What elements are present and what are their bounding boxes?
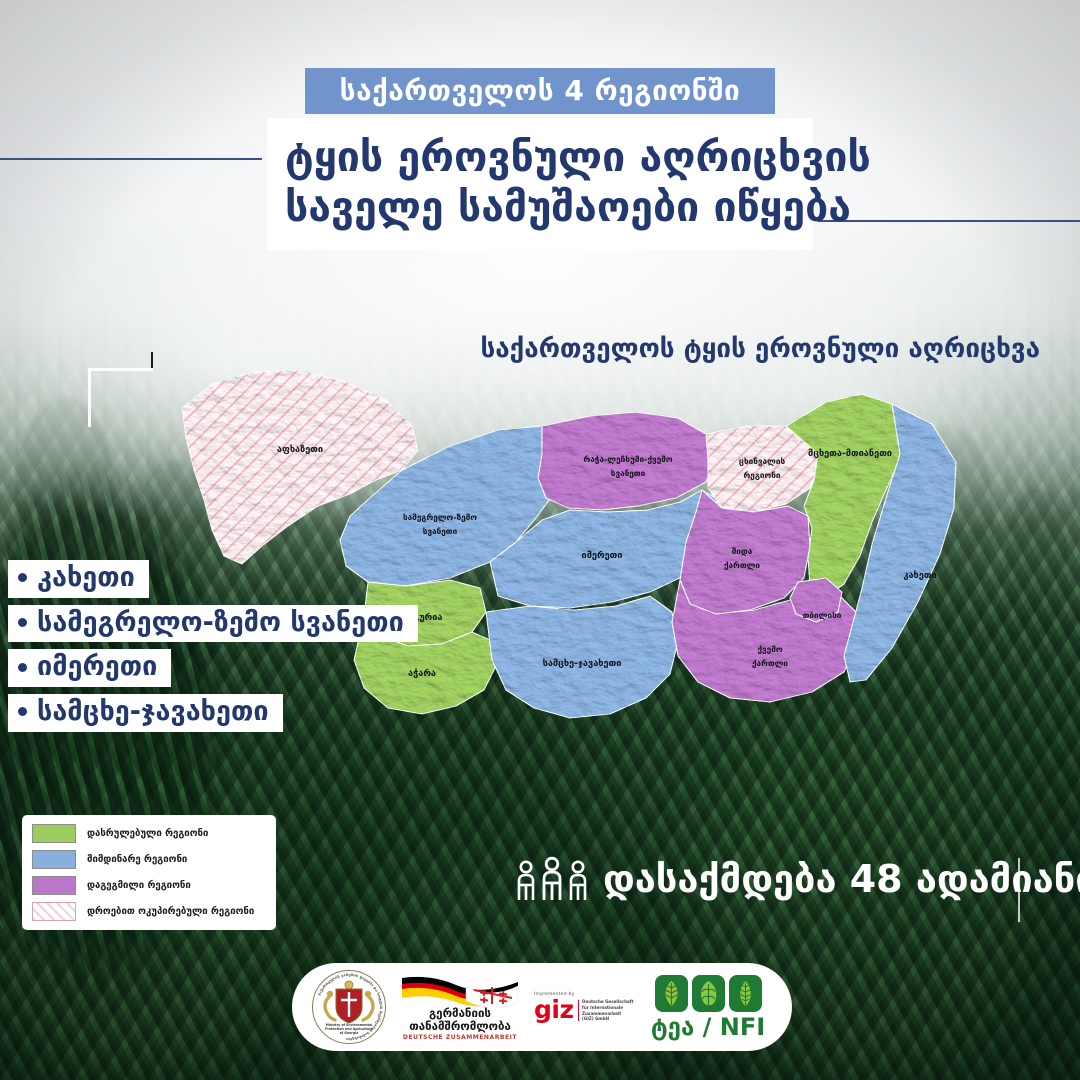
bullet-dot-icon (18, 707, 27, 716)
nfi-leaf-icons (655, 975, 762, 1012)
list-item: კახეთი (8, 560, 149, 598)
decor-rule-right (818, 220, 1080, 222)
page-title-line-1: ტყის ეროვნული აღრიცხვის (285, 132, 795, 182)
employment-stat: დასაქმდება 48 ადამიანი (515, 855, 1080, 903)
corner-bracket-top-left (88, 368, 153, 427)
giz-logo-row: giz Deutsche Gesellschaft für Internatio… (534, 999, 634, 1022)
leaf-icon-1 (655, 975, 688, 1012)
map-label-kvemo-kartli-2: ქართლი (752, 658, 788, 668)
legend-swatch-hatched (32, 902, 76, 921)
bullet-label: იმერეთი (37, 652, 157, 682)
map-label-abkhazeti: აფხაზეთი (277, 444, 323, 455)
decor-rule-left (0, 158, 262, 160)
leaf-icon-3 (729, 975, 762, 1012)
bullet-label: სამეგრელო-ზემო სვანეთი (37, 608, 404, 638)
leaf-icon-2 (692, 975, 725, 1012)
legend-swatch-blue (32, 850, 76, 869)
header-banner: საქართველოს 4 რეგიონში (305, 68, 775, 114)
nfi-logo: ტეა / NFI (644, 975, 772, 1039)
map-label-tskhinvali-1: ცხინვალის (739, 456, 786, 466)
legend-swatch-green (32, 824, 76, 843)
legend-label: მიმდინარე რეგიონი (87, 855, 187, 865)
emblem-en-line-3: of Georgia (312, 1031, 386, 1035)
list-item: სამეგრელო-ზემო სვანეთი (8, 605, 418, 643)
german-coop-line-2: თანამშრომლობა (409, 1020, 511, 1033)
map-label-samegrelo-2: სვანეთი (423, 526, 458, 536)
giz-divider-bar (578, 1000, 580, 1021)
footer-logo-bar: საქართველოს გარემოს დაცვისა და სოფლის მე… (292, 963, 792, 1051)
map-label-mtskheta-mtianeti: მცხეთა-მთიანეთი (808, 448, 892, 459)
map-label-samegrelo-1: სამეგრელო-ზემო (403, 512, 477, 522)
page-title-line-2: საველე სამუშაოები იწყება (285, 182, 795, 232)
employment-stat-text: დასაქმდება 48 ადამიანი (603, 860, 1080, 898)
three-people-icon (515, 855, 589, 903)
german-coop-line-1: გერმანიის (429, 1007, 491, 1020)
legend-label: დროებით ოკუპირებული რეგიონი (87, 907, 254, 917)
legend-item-completed: დასრულებული რეგიონი (32, 824, 266, 843)
giz-name-line-3: Zusammenarbeit (GIZ) GmbH (582, 1011, 634, 1022)
legend-item-planned: დაგეგმილი რეგიონი (32, 876, 266, 895)
map-label-tskhinvali-2: რეგიონი (744, 470, 781, 480)
map-label-racha-1: რაჭა-ლეჩხუმი-ქვემო (583, 454, 672, 464)
map-label-kvemo-kartli-1: ქვემო (757, 644, 782, 654)
map-label-guria: გურია (414, 612, 443, 623)
bullet-label: სამცხე-ჯავახეთი (37, 697, 269, 727)
list-item: სამცხე-ჯავახეთი (8, 694, 283, 732)
map-label-shida-kartli-2: ქართლი (724, 560, 760, 570)
nfi-label: ტეა / NFI (651, 1015, 765, 1039)
emblem-english-text: Ministry of Environmental Protection and… (312, 1023, 386, 1035)
legend-swatch-purple (32, 876, 76, 895)
region-bullet-list: კახეთი სამეგრელო-ზემო სვანეთი იმერეთი სა… (8, 560, 418, 739)
map-label-samtskhe-javakheti: სამცხე-ჯავახეთი (543, 658, 622, 669)
bullet-label: კახეთი (37, 563, 135, 593)
map-label-racha-2: სვანეთი (611, 468, 646, 478)
list-item: იმერეთი (8, 649, 171, 687)
legend-label: დაგეგმილი რეგიონი (87, 881, 191, 891)
giz-logo: Implemented by giz Deutsche Gesellschaft… (534, 992, 634, 1022)
bullet-dot-icon (18, 663, 27, 672)
header-banner-label: საქართველოს 4 რეგიონში (340, 77, 741, 105)
ministry-emblem-logo: საქართველოს გარემოს დაცვისა და სოფლის მე… (312, 970, 386, 1044)
german-cooperation-logo: გერმანიის თანამშრომლობა DEUTSCHE ZUSAMME… (396, 973, 524, 1042)
german-coop-subtitle: DEUTSCHE ZUSAMMENARBEIT (403, 1034, 517, 1041)
bullet-dot-icon (18, 618, 27, 627)
map-region-samtskhe-javakheti (486, 596, 678, 718)
infographic-poster: საქართველოს 4 რეგიონში ტყის ეროვნული აღრ… (0, 0, 1080, 1080)
map-legend: დასრულებული რეგიონი მიმდინარე რეგიონი და… (22, 815, 276, 930)
map-label-tbilisi: თბილისი (803, 610, 842, 620)
giz-fullname: Deutsche Gesellschaft für Internationale… (582, 999, 634, 1021)
bullet-dot-icon (18, 573, 27, 582)
page-title: ტყის ეროვნული აღრიცხვის საველე სამუშაოებ… (267, 118, 813, 250)
map-label-imereti: იმერეთი (582, 550, 623, 561)
map-label-shida-kartli-1: შიდა (732, 546, 753, 556)
legend-label: დასრულებული რეგიონი (87, 829, 208, 839)
map-label-kakheti: კახეთი (903, 570, 936, 581)
giz-wordmark: giz (534, 999, 574, 1022)
legend-item-ongoing: მიმდინარე რეგიონი (32, 850, 266, 869)
german-georgian-flag-icon (400, 973, 520, 1007)
legend-item-occupied: დროებით ოკუპირებული რეგიონი (32, 902, 266, 921)
